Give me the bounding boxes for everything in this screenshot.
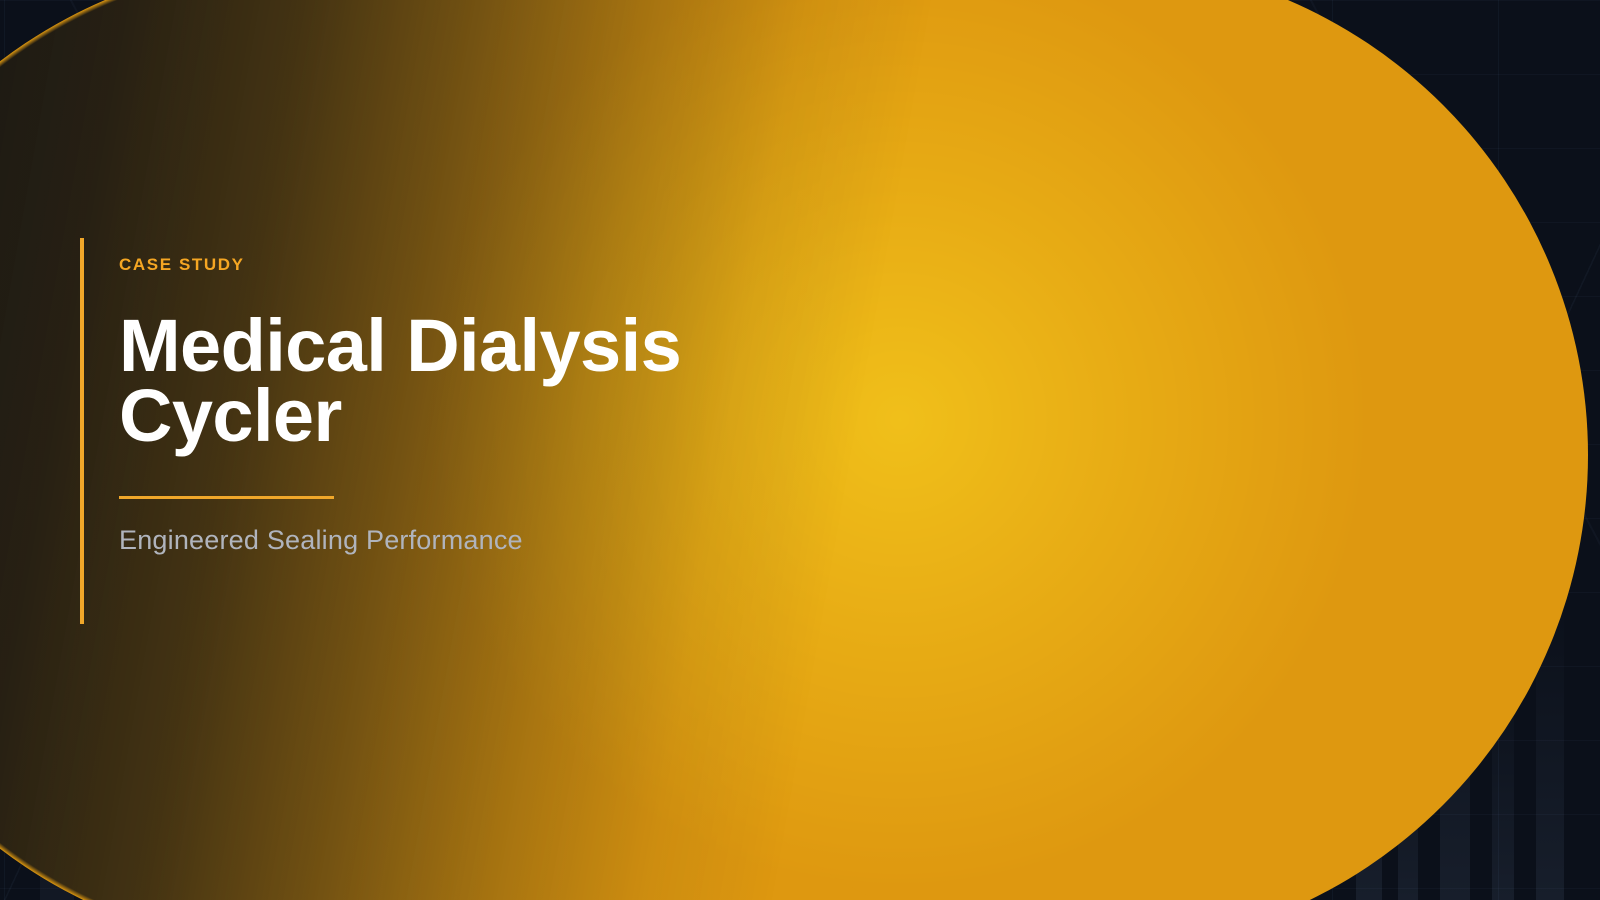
page-title: Medical Dialysis Cycler xyxy=(119,311,819,450)
title-block: CASE STUDY Medical Dialysis Cycler Engin… xyxy=(80,238,980,624)
title-divider xyxy=(119,496,334,499)
title-copy: CASE STUDY Medical Dialysis Cycler Engin… xyxy=(119,238,819,554)
case-study-slide: CASE STUDY Medical Dialysis Cycler Engin… xyxy=(0,0,1600,900)
eyebrow-label: CASE STUDY xyxy=(119,256,819,273)
page-subtitle: Engineered Sealing Performance xyxy=(119,527,819,554)
vertical-accent-bar xyxy=(80,238,84,624)
